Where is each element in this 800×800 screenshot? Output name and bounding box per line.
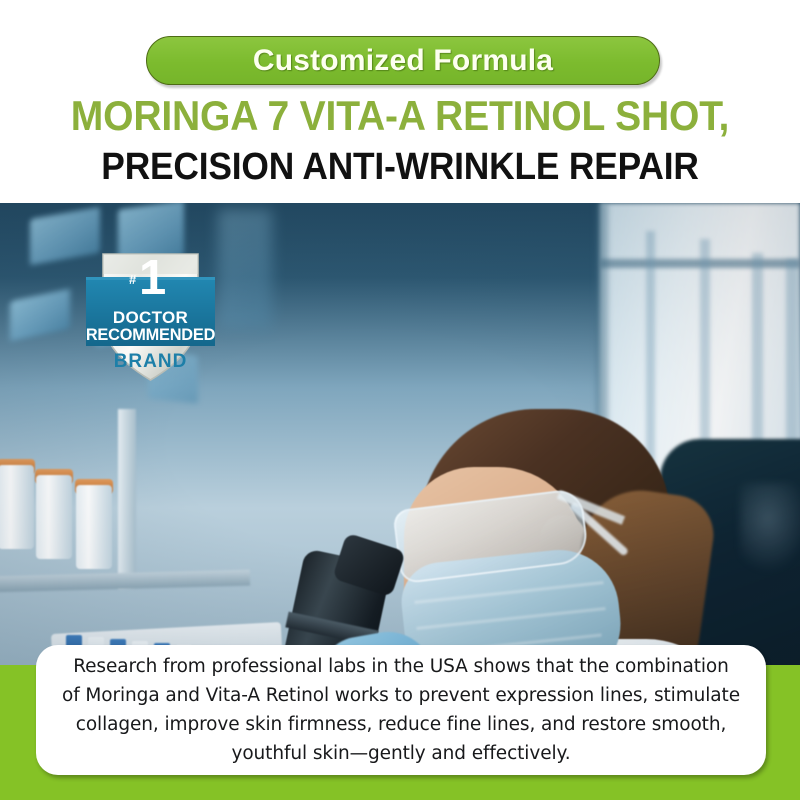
badge-rank-number: 1 — [139, 254, 166, 303]
product-marketing-poster: # 1 DOCTOR RECOMMENDED BRAND Customized … — [0, 0, 800, 800]
page-subtitle: PRECISION ANTI-WRINKLE REPAIR — [28, 145, 772, 189]
research-info-card: Research from professional labs in the U… — [36, 645, 766, 775]
badge-line-recommended: RECOMMENDED — [76, 325, 225, 345]
doctor-recommended-badge: # 1 DOCTOR RECOMMENDED BRAND — [73, 240, 228, 390]
research-info-text: Research from professional labs in the U… — [62, 652, 740, 768]
badge-line-brand: BRAND — [73, 351, 228, 373]
poster-header: Customized Formula MORINGA 7 VITA-A RETI… — [0, 0, 800, 203]
pill-label: Customized Formula — [253, 44, 553, 78]
page-title: MORINGA 7 VITA-A RETINOL SHOT, — [28, 93, 772, 139]
customized-formula-pill: Customized Formula — [146, 36, 660, 85]
badge-rank-symbol: # — [129, 272, 136, 287]
